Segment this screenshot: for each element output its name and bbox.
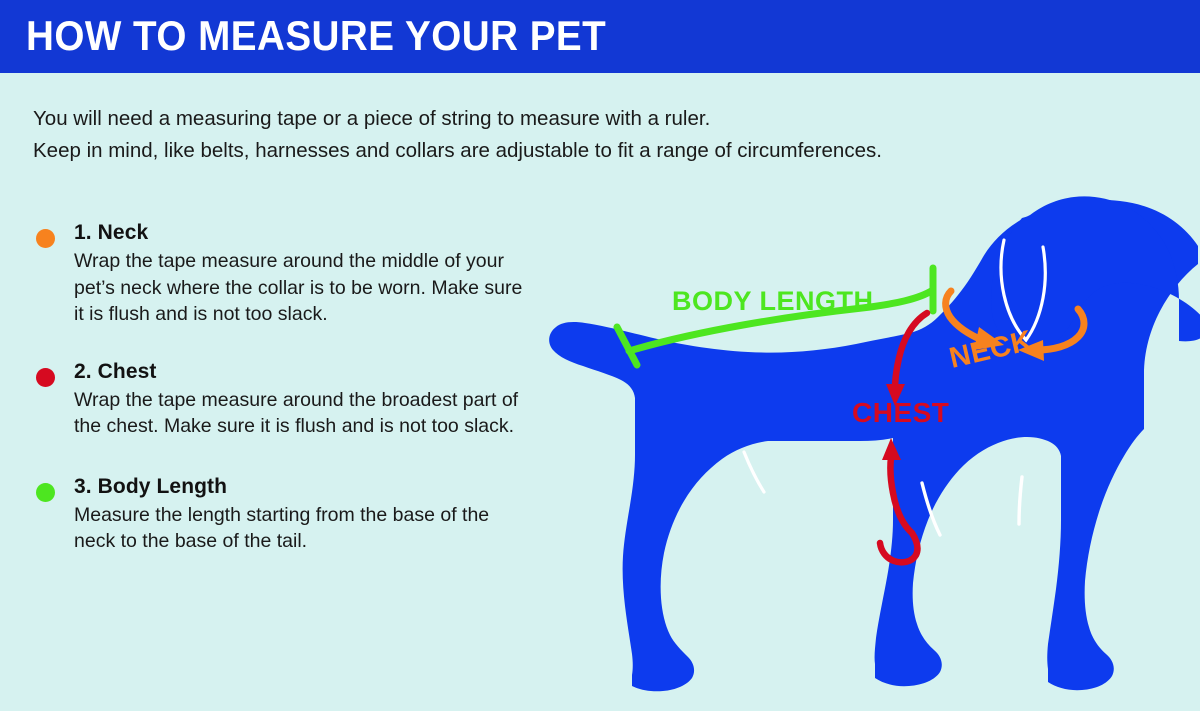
leg-separation-lines [744,452,1022,535]
dog-measurement-diagram: BODY LENGTH NECK [0,0,1200,711]
label-chest: CHEST [852,397,949,428]
label-body-length: BODY LENGTH [672,286,874,316]
infographic-page: HOW TO MEASURE YOUR PET You will need a … [0,0,1200,711]
